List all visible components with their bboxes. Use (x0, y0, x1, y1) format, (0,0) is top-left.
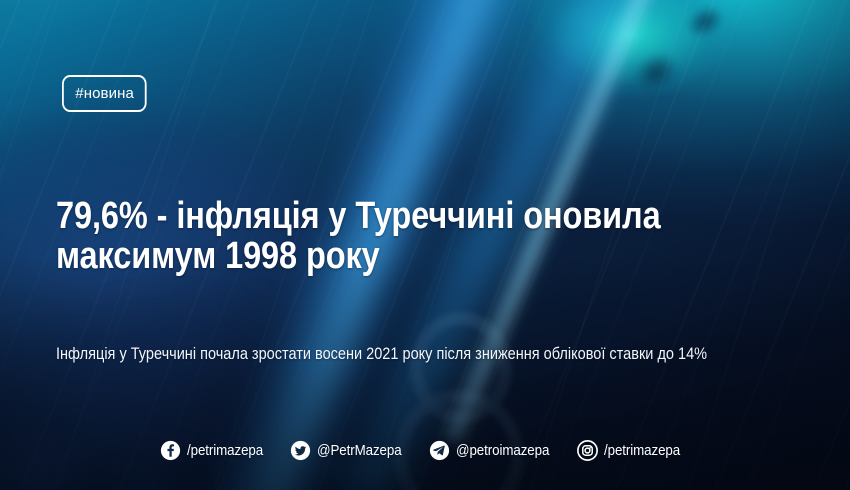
social-links-bar: /petrimazepa @PetrMazepa @petroimazepa (0, 436, 850, 464)
page-title: 79,6% - інфляція у Туреччині оновила мак… (56, 196, 817, 276)
social-handle-instagram: /petrimazepa (604, 442, 680, 459)
social-link-facebook[interactable]: /petrimazepa (160, 440, 273, 461)
news-tag-label: #новина (75, 85, 134, 102)
instagram-icon (577, 440, 598, 461)
content-layer: #новина 79,6% - інфляція у Туреччині оно… (0, 0, 850, 490)
news-tag-badge[interactable]: #новина (62, 75, 147, 112)
page-subtitle: Інфляція у Туреччині почала зростати вос… (56, 344, 848, 364)
social-link-instagram[interactable]: /petrimazepa (577, 440, 690, 461)
social-link-telegram[interactable]: @petroimazepa (429, 440, 561, 461)
facebook-icon (160, 440, 181, 461)
social-link-twitter[interactable]: @PetrMazepa (290, 440, 412, 461)
twitter-icon (290, 440, 311, 461)
news-banner-card: #новина 79,6% - інфляція у Туреччині оно… (0, 0, 850, 490)
social-handle-facebook: /petrimazepa (187, 442, 263, 459)
telegram-icon (429, 440, 450, 461)
social-handle-telegram: @petroimazepa (456, 442, 549, 459)
social-handle-twitter: @PetrMazepa (317, 442, 402, 459)
